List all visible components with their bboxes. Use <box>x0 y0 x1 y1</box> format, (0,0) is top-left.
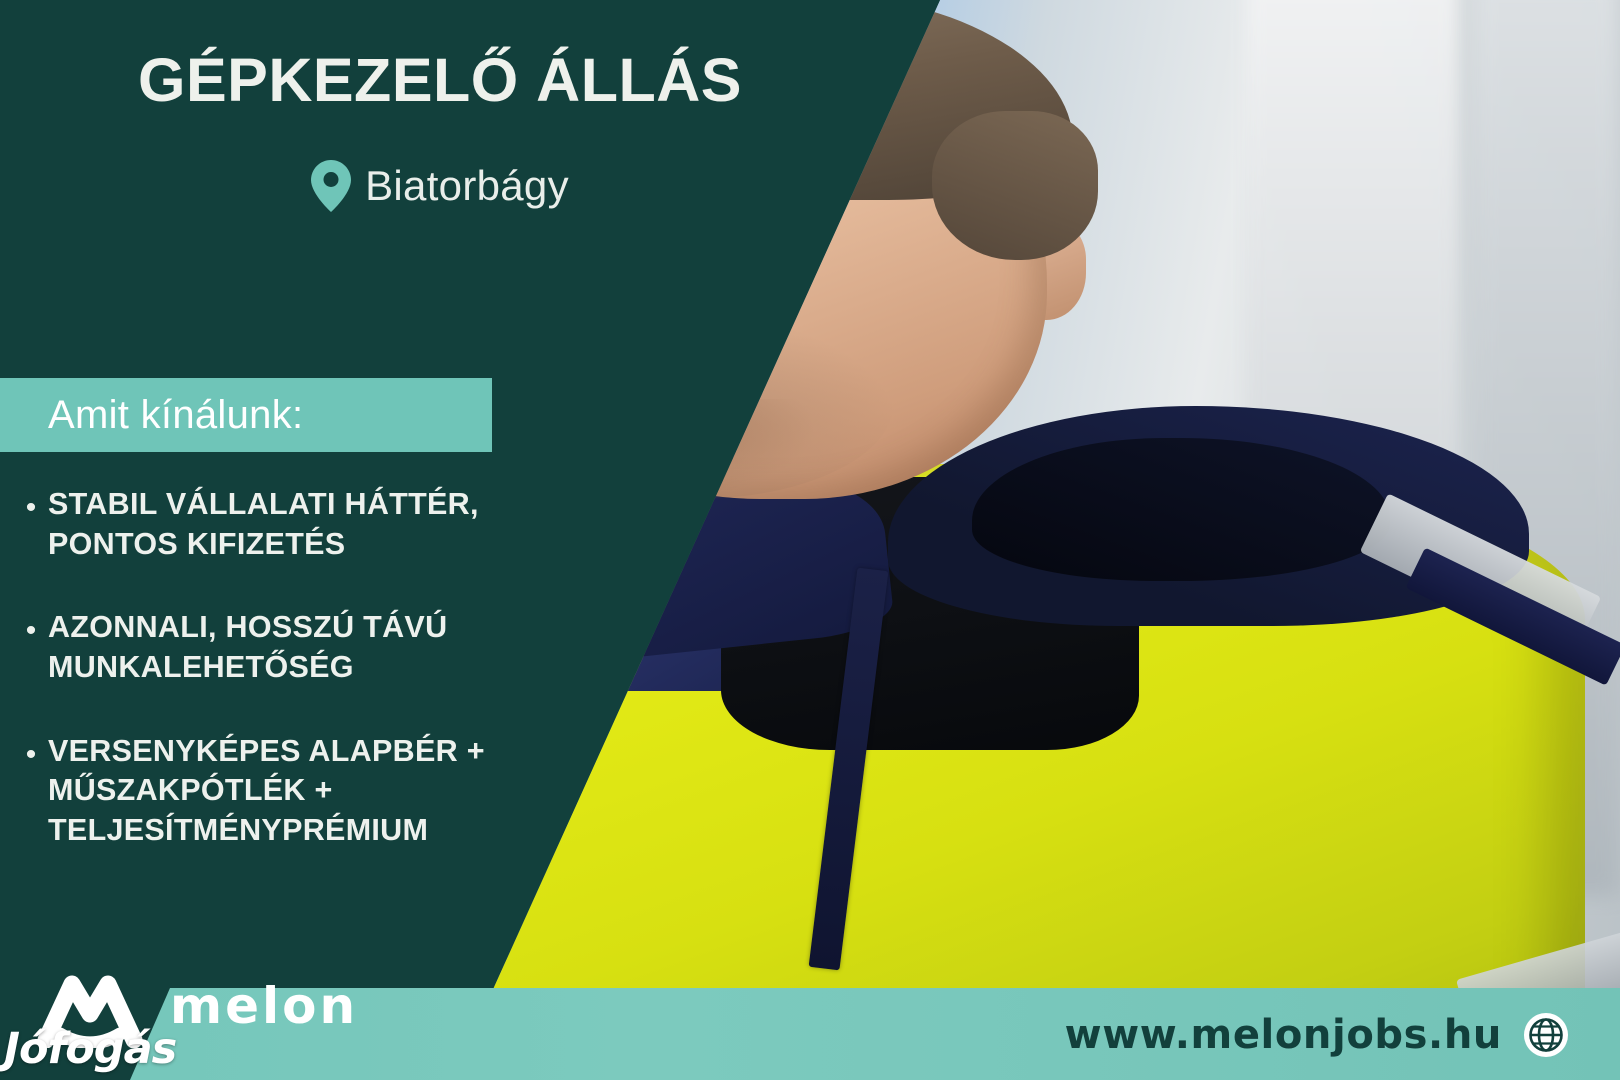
job-ad-poster: GÉPKEZELŐ ÁLLÁS Biatorbágy Amit kínálunk… <box>0 0 1620 1080</box>
list-item: • STABIL VÁLLALATI HÁTTÉR, PONTOS KIFIZE… <box>14 485 574 564</box>
location-label: Biatorbágy <box>365 162 569 210</box>
bullet-marker-icon: • <box>14 608 48 687</box>
offer-banner-label: Amit kínálunk: <box>0 393 303 438</box>
website-url[interactable]: www.melonjobs.hu <box>1065 1012 1502 1058</box>
benefits-list: • STABIL VÁLLALATI HÁTTÉR, PONTOS KIFIZE… <box>14 485 574 894</box>
list-item-label: VERSENYKÉPES ALAPBÉR + MŰSZAKPÓTLÉK + TE… <box>48 732 485 851</box>
jofogas-watermark: Jófogás <box>4 1024 176 1074</box>
location-row: Biatorbágy <box>0 160 880 212</box>
list-item-label: STABIL VÁLLALATI HÁTTÉR, PONTOS KIFIZETÉ… <box>48 485 479 564</box>
hair-side <box>932 111 1099 260</box>
offer-banner: Amit kínálunk: <box>0 378 492 452</box>
website-row[interactable]: www.melonjobs.hu <box>1065 1012 1568 1058</box>
page-title: GÉPKEZELŐ ÁLLÁS <box>0 48 880 112</box>
bullet-marker-icon: • <box>14 485 48 564</box>
melon-wordmark: melon <box>170 977 358 1035</box>
list-item-label: AZONNALI, HOSSZÚ TÁVÚ MUNKALEHETŐSÉG <box>48 608 447 687</box>
list-item: • AZONNALI, HOSSZÚ TÁVÚ MUNKALEHETŐSÉG <box>14 608 574 687</box>
map-pin-icon <box>311 160 351 212</box>
bullet-marker-icon: • <box>14 732 48 851</box>
globe-icon <box>1524 1013 1568 1057</box>
list-item: • VERSENYKÉPES ALAPBÉR + MŰSZAKPÓTLÉK + … <box>14 732 574 851</box>
